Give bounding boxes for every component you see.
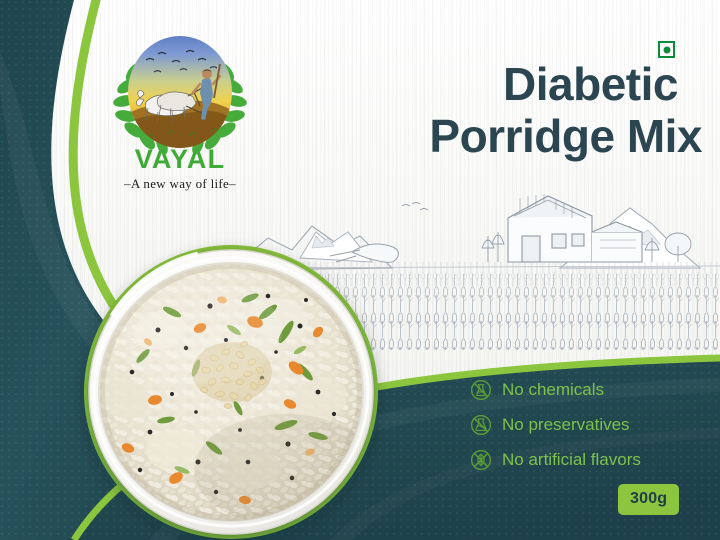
feature-label: No artificial flavors <box>502 450 641 470</box>
brand-name: VAYAL <box>104 144 256 175</box>
brand-tagline: –A new way of life– <box>104 176 256 192</box>
feature-item: No preservatives <box>470 409 700 440</box>
vegetarian-dot <box>663 46 670 53</box>
product-title-line-1: Diabetic <box>412 58 702 110</box>
vegetarian-mark-icon <box>658 41 675 58</box>
product-package-label: VAYAL –A new way of life– Diabetic Porri… <box>0 0 720 540</box>
feature-label: No chemicals <box>502 380 604 400</box>
no-chemicals-icon <box>470 379 492 401</box>
no-preservatives-icon <box>470 414 492 436</box>
brand-logo: VAYAL –A new way of life– <box>104 36 256 196</box>
product-title-line-2: Porridge Mix <box>412 110 702 162</box>
farmer-with-oxen-emblem <box>128 36 232 148</box>
product-title: Diabetic Porridge Mix <box>412 58 702 162</box>
feature-list: No chemicals No preservatives <box>470 374 700 479</box>
net-weight-badge: 300g <box>618 484 679 515</box>
feature-item: No chemicals <box>470 374 700 405</box>
feature-item: No artificial flavors <box>470 444 700 475</box>
no-artificial-flavors-icon <box>470 449 492 471</box>
feature-label: No preservatives <box>502 415 630 435</box>
